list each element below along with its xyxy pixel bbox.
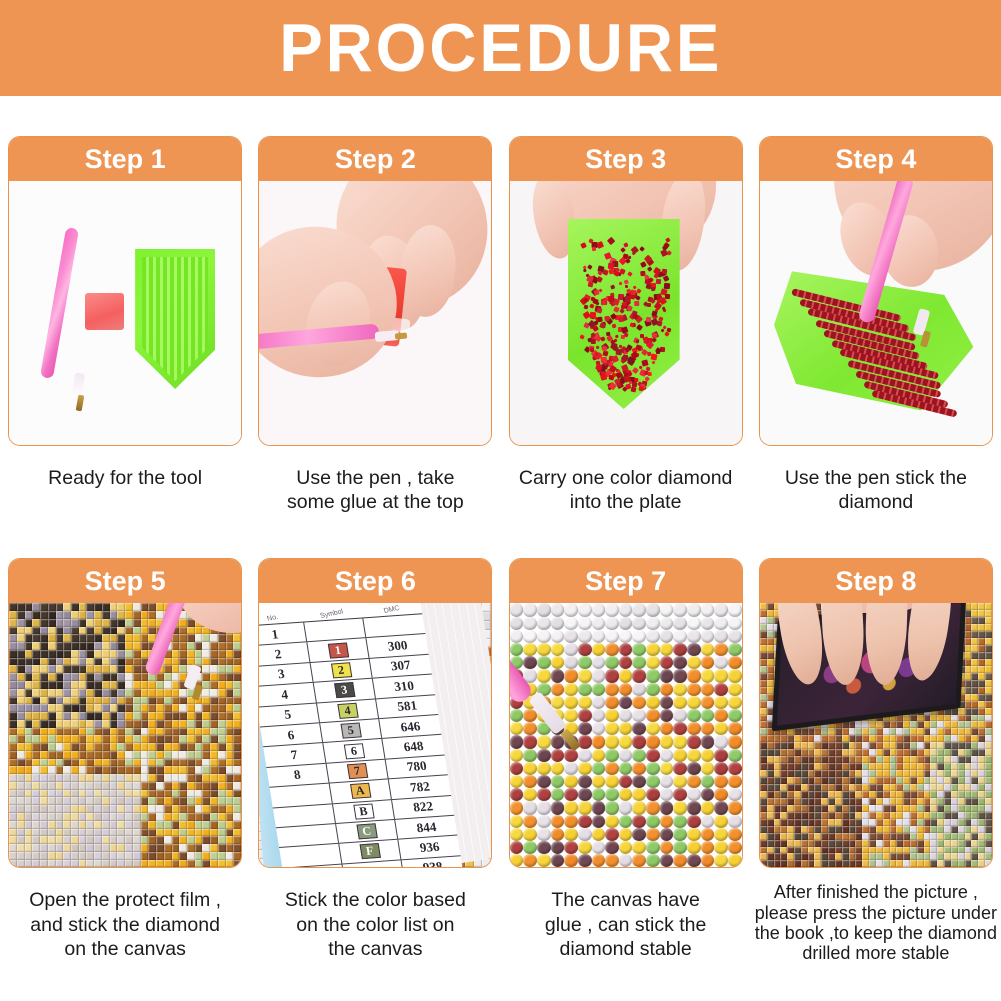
step-card-5[interactable]: Step 5: [8, 558, 242, 868]
diamond-canvas: [9, 603, 241, 867]
procedure-infographic: PROCEDURE Step 1: [0, 0, 1001, 1001]
page-title: PROCEDURE: [279, 14, 722, 82]
step-caption-6: Stick the color basedon the color list o…: [262, 888, 488, 961]
step-cell-8: Step 8: [751, 558, 1001, 963]
step-cell-6: Step 6 No.SymbolDMC 12130032307433105458…: [250, 558, 500, 963]
step-card-1[interactable]: Step 1: [8, 136, 242, 446]
step-header-label-8: Step 8: [835, 568, 916, 595]
step-header-1: Step 1: [9, 137, 241, 181]
step-header-label-5: Step 5: [85, 568, 166, 595]
red-diamonds: [568, 219, 680, 409]
step-image-5: [9, 603, 241, 867]
step-header-label-6: Step 6: [335, 568, 416, 595]
steps-row-top: Step 1 Ready for th: [0, 96, 1001, 514]
step-image-4: [760, 181, 992, 445]
step-cell-4: Step 4: [751, 136, 1001, 514]
steps-row-bottom: Step 5 Open the protect film ,and stick …: [0, 514, 1001, 963]
step-cell-3: Step 3 Carry one color diamondinto: [501, 136, 751, 514]
step-card-3[interactable]: Step 3: [509, 136, 743, 446]
step-image-1: [9, 181, 241, 445]
step-caption-5: Open the protect film ,and stick the dia…: [12, 888, 238, 961]
step-header-label-7: Step 7: [585, 568, 666, 595]
step-header-4: Step 4: [760, 137, 992, 181]
step-header-3: Step 3: [510, 137, 742, 181]
step-card-6[interactable]: Step 6 No.SymbolDMC 12130032307433105458…: [258, 558, 492, 868]
step-caption-3: Carry one color diamondinto the plate: [513, 466, 739, 514]
step-caption-7: The canvas haveglue , can stick thediamo…: [513, 888, 739, 961]
step-header-8: Step 8: [760, 559, 992, 603]
step-header-6: Step 6: [259, 559, 491, 603]
step-header-2: Step 2: [259, 137, 491, 181]
step-cell-7: Step 7 The canvas haveglue , can stick t…: [501, 558, 751, 963]
step-caption-2: Use the pen , takesome glue at the top: [262, 466, 488, 514]
page-banner: PROCEDURE: [0, 0, 1001, 96]
step-card-2[interactable]: Step 2: [258, 136, 492, 446]
diamond-canvas: [510, 603, 742, 867]
step-header-label-4: Step 4: [835, 146, 916, 173]
step-image-7: [510, 603, 742, 867]
step-image-6: No.SymbolDMC 121300323074331054581656467…: [259, 603, 491, 867]
steps-grid: Step 1 Ready for th: [0, 96, 1001, 963]
step-image-3: [510, 181, 742, 445]
step-card-4[interactable]: Step 4: [759, 136, 993, 446]
step-caption-1: Ready for the tool: [12, 466, 238, 490]
step-card-8[interactable]: Step 8: [759, 558, 993, 868]
step-cell-5: Step 5 Open the protect film ,and stick …: [0, 558, 250, 963]
step-header-label-1: Step 1: [85, 146, 166, 173]
step-header-label-2: Step 2: [335, 146, 416, 173]
step-card-7[interactable]: Step 7: [509, 558, 743, 868]
step-image-8: [760, 603, 992, 867]
step-caption-8: After finished the picture ,please press…: [754, 882, 998, 963]
step-header-5: Step 5: [9, 559, 241, 603]
step-cell-2: Step 2: [250, 136, 500, 514]
step-image-2: [259, 181, 491, 445]
step-cell-1: Step 1 Ready for th: [0, 136, 250, 514]
step-header-label-3: Step 3: [585, 146, 666, 173]
glue-square-icon: [85, 293, 124, 330]
step-caption-4: Use the pen stick thediamond: [763, 466, 989, 514]
step-header-7: Step 7: [510, 559, 742, 603]
